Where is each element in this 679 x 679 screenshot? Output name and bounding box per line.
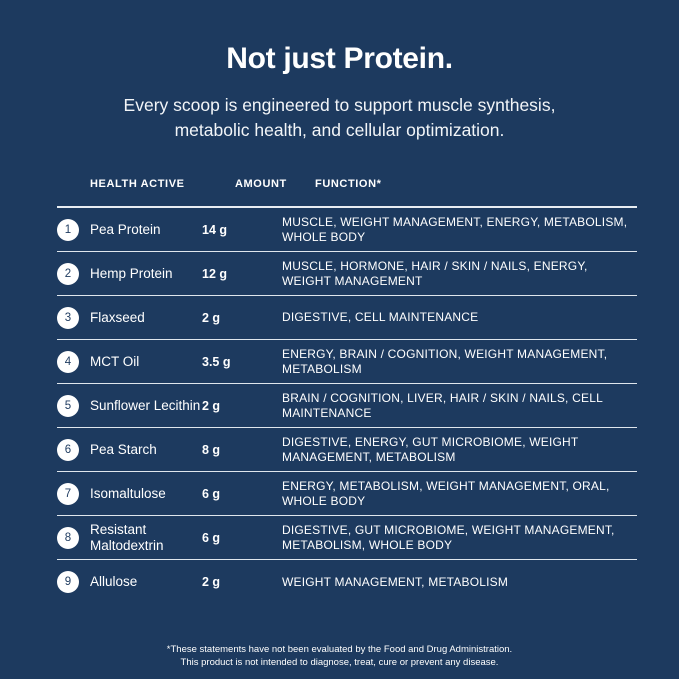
column-header-health-active: HEALTH ACTIVE	[90, 178, 235, 190]
cell-amount: 2 g	[202, 399, 282, 413]
table-body: 1Pea Protein14 gMUSCLE, WEIGHT MANAGEMEN…	[57, 208, 637, 604]
cell-function: MUSCLE, WEIGHT MANAGEMENT, ENERGY, METAB…	[282, 215, 637, 245]
table-header-row: HEALTH ACTIVE AMOUNT FUNCTION*	[57, 178, 637, 204]
column-header-amount: AMOUNT	[235, 178, 315, 190]
cell-amount: 2 g	[202, 311, 282, 325]
cell-function: WEIGHT MANAGEMENT, METABOLISM	[282, 575, 637, 590]
footnote-line-1: *These statements have not been evaluate…	[60, 643, 619, 656]
row-number-badge: 2	[57, 263, 79, 285]
supplement-facts-poster: Not just Protein. Every scoop is enginee…	[0, 0, 679, 679]
table-row: 8Resistant Maltodextrin6 gDIGESTIVE, GUT…	[57, 516, 637, 560]
cell-amount: 6 g	[202, 487, 282, 501]
cell-amount: 6 g	[202, 531, 282, 545]
table-row: 6Pea Starch8 gDIGESTIVE, ENERGY, GUT MIC…	[57, 428, 637, 472]
table-row: 2Hemp Protein12 gMUSCLE, HORMONE, HAIR /…	[57, 252, 637, 296]
footnote-line-2: This product is not intended to diagnose…	[60, 656, 619, 669]
cell-amount: 12 g	[202, 267, 282, 281]
table-row: 3Flaxseed2 gDIGESTIVE, CELL MAINTENANCE	[57, 296, 637, 340]
cell-amount: 8 g	[202, 443, 282, 457]
row-number-badge: 1	[57, 219, 79, 241]
row-number-badge: 4	[57, 351, 79, 373]
table-row: 7Isomaltulose6 gENERGY, METABOLISM, WEIG…	[57, 472, 637, 516]
legal-footnote: *These statements have not been evaluate…	[60, 643, 619, 669]
subtitle-line-2: metabolic health, and cellular optimizat…	[50, 118, 629, 143]
row-number-badge: 8	[57, 527, 79, 549]
page-subtitle: Every scoop is engineered to support mus…	[50, 93, 629, 143]
cell-function: MUSCLE, HORMONE, HAIR / SKIN / NAILS, EN…	[282, 259, 637, 289]
row-number-badge: 5	[57, 395, 79, 417]
cell-function: ENERGY, METABOLISM, WEIGHT MANAGEMENT, O…	[282, 479, 637, 509]
subtitle-line-1: Every scoop is engineered to support mus…	[50, 93, 629, 118]
health-actives-table: HEALTH ACTIVE AMOUNT FUNCTION* 1Pea Prot…	[57, 178, 637, 604]
table-row: 4MCT Oil3.5 gENERGY, BRAIN / COGNITION, …	[57, 340, 637, 384]
row-number-badge: 9	[57, 571, 79, 593]
cell-function: DIGESTIVE, GUT MICROBIOME, WEIGHT MANAGE…	[282, 523, 637, 553]
cell-amount: 3.5 g	[202, 355, 282, 369]
cell-amount: 14 g	[202, 223, 282, 237]
table-row: 9Allulose2 gWEIGHT MANAGEMENT, METABOLIS…	[57, 560, 637, 604]
page-title: Not just Protein.	[0, 42, 679, 76]
cell-function: DIGESTIVE, CELL MAINTENANCE	[282, 310, 637, 325]
cell-function: DIGESTIVE, ENERGY, GUT MICROBIOME, WEIGH…	[282, 435, 637, 465]
cell-function: ENERGY, BRAIN / COGNITION, WEIGHT MANAGE…	[282, 347, 637, 377]
column-header-function: FUNCTION*	[315, 178, 637, 190]
row-number-badge: 3	[57, 307, 79, 329]
row-number-badge: 7	[57, 483, 79, 505]
row-number-badge: 6	[57, 439, 79, 461]
table-row: 5Sunflower Lecithin2 gBRAIN / COGNITION,…	[57, 384, 637, 428]
cell-amount: 2 g	[202, 575, 282, 589]
table-row: 1Pea Protein14 gMUSCLE, WEIGHT MANAGEMEN…	[57, 208, 637, 252]
cell-function: BRAIN / COGNITION, LIVER, HAIR / SKIN / …	[282, 391, 637, 421]
